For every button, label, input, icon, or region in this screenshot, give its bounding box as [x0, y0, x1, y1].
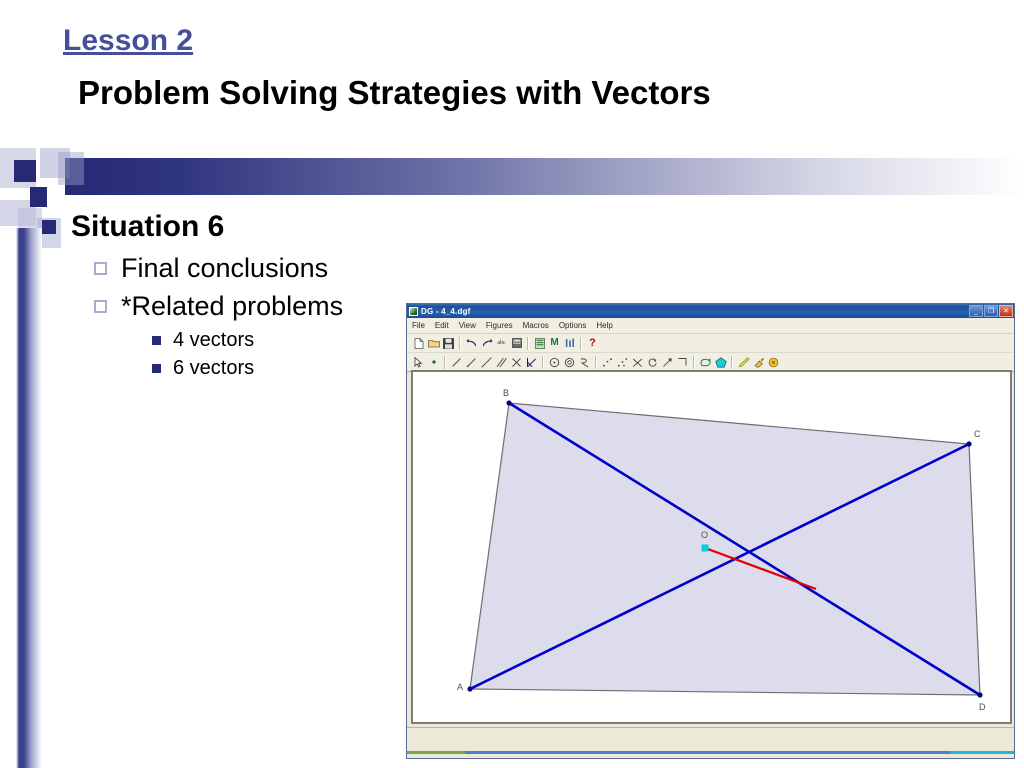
intersection-icon[interactable]: [509, 355, 524, 370]
menu-item-help[interactable]: Help: [596, 321, 612, 330]
fill-polygon-icon[interactable]: [698, 355, 713, 370]
circle-radius-icon[interactable]: [562, 355, 577, 370]
menu-item-macros[interactable]: Macros: [523, 321, 549, 330]
help-question-icon[interactable]: ?: [585, 336, 600, 351]
status-segment-green: [407, 751, 465, 754]
parallel-line-icon[interactable]: [494, 355, 509, 370]
redo-icon[interactable]: [479, 336, 494, 351]
pencil-icon[interactable]: [736, 355, 751, 370]
dg-app-icon: [409, 307, 418, 316]
menu-item-options[interactable]: Options: [559, 321, 587, 330]
list-item: *Related problems: [42, 288, 462, 325]
macro-m-icon[interactable]: M: [547, 336, 562, 351]
status-segment-cyan: [950, 751, 1014, 754]
menu-bar: File Edit View Figures Macros Options He…: [407, 318, 1014, 334]
bullet-square-icon: [42, 220, 56, 234]
toolbar-separator: [595, 356, 597, 369]
vertex-b-point: [506, 400, 511, 405]
center-o-marker: [702, 545, 709, 552]
toolbar-separator: [580, 337, 582, 350]
list-item: 4 vectors: [42, 326, 462, 354]
paint-icon[interactable]: [751, 355, 766, 370]
toolbar-separator: [542, 356, 544, 369]
file-toolbar: abc M ?: [407, 334, 1014, 353]
status-color-strip: [407, 751, 1014, 754]
rotation-icon[interactable]: [645, 355, 660, 370]
angle-icon[interactable]: [675, 355, 690, 370]
table-icon[interactable]: [532, 336, 547, 351]
bullet-text-level2-1: *Related problems: [121, 288, 343, 325]
circle-center-icon[interactable]: [547, 355, 562, 370]
vertex-c-point: [966, 441, 971, 446]
reflection-icon[interactable]: [630, 355, 645, 370]
bullet-hollow-square-icon: [94, 300, 107, 313]
bullet-text-level2-0: Final conclusions: [121, 250, 328, 287]
arc-icon[interactable]: [577, 355, 592, 370]
lesson-label: Lesson 2: [63, 24, 193, 58]
stamp-icon[interactable]: [766, 355, 781, 370]
decor-square-navy-1: [14, 160, 36, 182]
status-segment-blue: [465, 751, 951, 754]
save-disk-icon[interactable]: [441, 336, 456, 351]
midpoint-icon[interactable]: [600, 355, 615, 370]
geometry-canvas-area[interactable]: A B C D O: [411, 370, 1012, 724]
point-icon[interactable]: [426, 355, 441, 370]
undo-icon[interactable]: [464, 336, 479, 351]
menu-item-figures[interactable]: Figures: [486, 321, 513, 330]
center-label-o: O: [701, 530, 708, 540]
decor-square-navy-2: [30, 187, 47, 207]
window-controls: _ ❐ ✕: [969, 305, 1013, 317]
bullet-small-square-icon: [152, 336, 161, 345]
bullet-text-level3-0: 4 vectors: [173, 326, 254, 354]
close-icon[interactable]: ✕: [999, 305, 1013, 317]
vertex-d-point: [977, 692, 982, 697]
slide-title-area: Lesson 2 Problem Solving Strategies with…: [0, 0, 1024, 145]
left-accent-line: [16, 228, 42, 768]
header-gradient-bar: [65, 158, 1024, 195]
toolbar-separator: [444, 356, 446, 369]
list-item: Final conclusions: [42, 250, 462, 287]
calculator-icon[interactable]: [509, 336, 524, 351]
bullet-list: Situation 6 Final conclusions *Related p…: [42, 208, 462, 382]
maximize-icon[interactable]: ❐: [984, 305, 998, 317]
toolbar-separator: [693, 356, 695, 369]
menu-item-edit[interactable]: Edit: [435, 321, 449, 330]
minimize-icon[interactable]: _: [969, 305, 983, 317]
toolbar-separator: [527, 337, 529, 350]
toolbar-separator: [459, 337, 461, 350]
vertex-label-a: A: [457, 682, 463, 692]
dg-application-window: DG - 4_4.dgf _ ❐ ✕ File Edit View Figure…: [406, 303, 1015, 759]
geometry-figure[interactable]: A B C D O: [413, 372, 1010, 722]
window-title: DG - 4_4.dgf: [421, 307, 471, 316]
vertex-label-d: D: [979, 702, 986, 712]
list-item: Situation 6: [42, 208, 462, 246]
line-icon[interactable]: [479, 355, 494, 370]
window-titlebar[interactable]: DG - 4_4.dgf _ ❐ ✕: [407, 304, 1014, 318]
color-pentagon-icon[interactable]: [713, 355, 728, 370]
list-item: 6 vectors: [42, 354, 462, 382]
symmetry-point-icon[interactable]: [615, 355, 630, 370]
status-bar: [407, 727, 1014, 758]
menu-item-file[interactable]: File: [412, 321, 425, 330]
vertex-label-b: B: [503, 388, 509, 398]
pointer-select-icon[interactable]: [411, 355, 426, 370]
vertex-label-c: C: [974, 429, 981, 439]
page-title: Problem Solving Strategies with Vectors: [78, 74, 711, 112]
properties-icon[interactable]: [562, 336, 577, 351]
perpendicular-icon[interactable]: [524, 355, 539, 370]
decor-square-light-3: [58, 152, 84, 185]
text-abc-icon[interactable]: abc: [494, 336, 509, 351]
ray-icon[interactable]: [464, 355, 479, 370]
vertex-a-point: [467, 686, 472, 691]
bullet-small-square-icon: [152, 364, 161, 373]
bullet-text-level3-1: 6 vectors: [173, 354, 254, 382]
new-document-icon[interactable]: [411, 336, 426, 351]
bullet-hollow-square-icon: [94, 262, 107, 275]
toolbar-separator: [731, 356, 733, 369]
bullet-text-level1: Situation 6: [71, 208, 224, 246]
segment-icon[interactable]: [449, 355, 464, 370]
translation-icon[interactable]: [660, 355, 675, 370]
open-folder-icon[interactable]: [426, 336, 441, 351]
menu-item-view[interactable]: View: [459, 321, 476, 330]
